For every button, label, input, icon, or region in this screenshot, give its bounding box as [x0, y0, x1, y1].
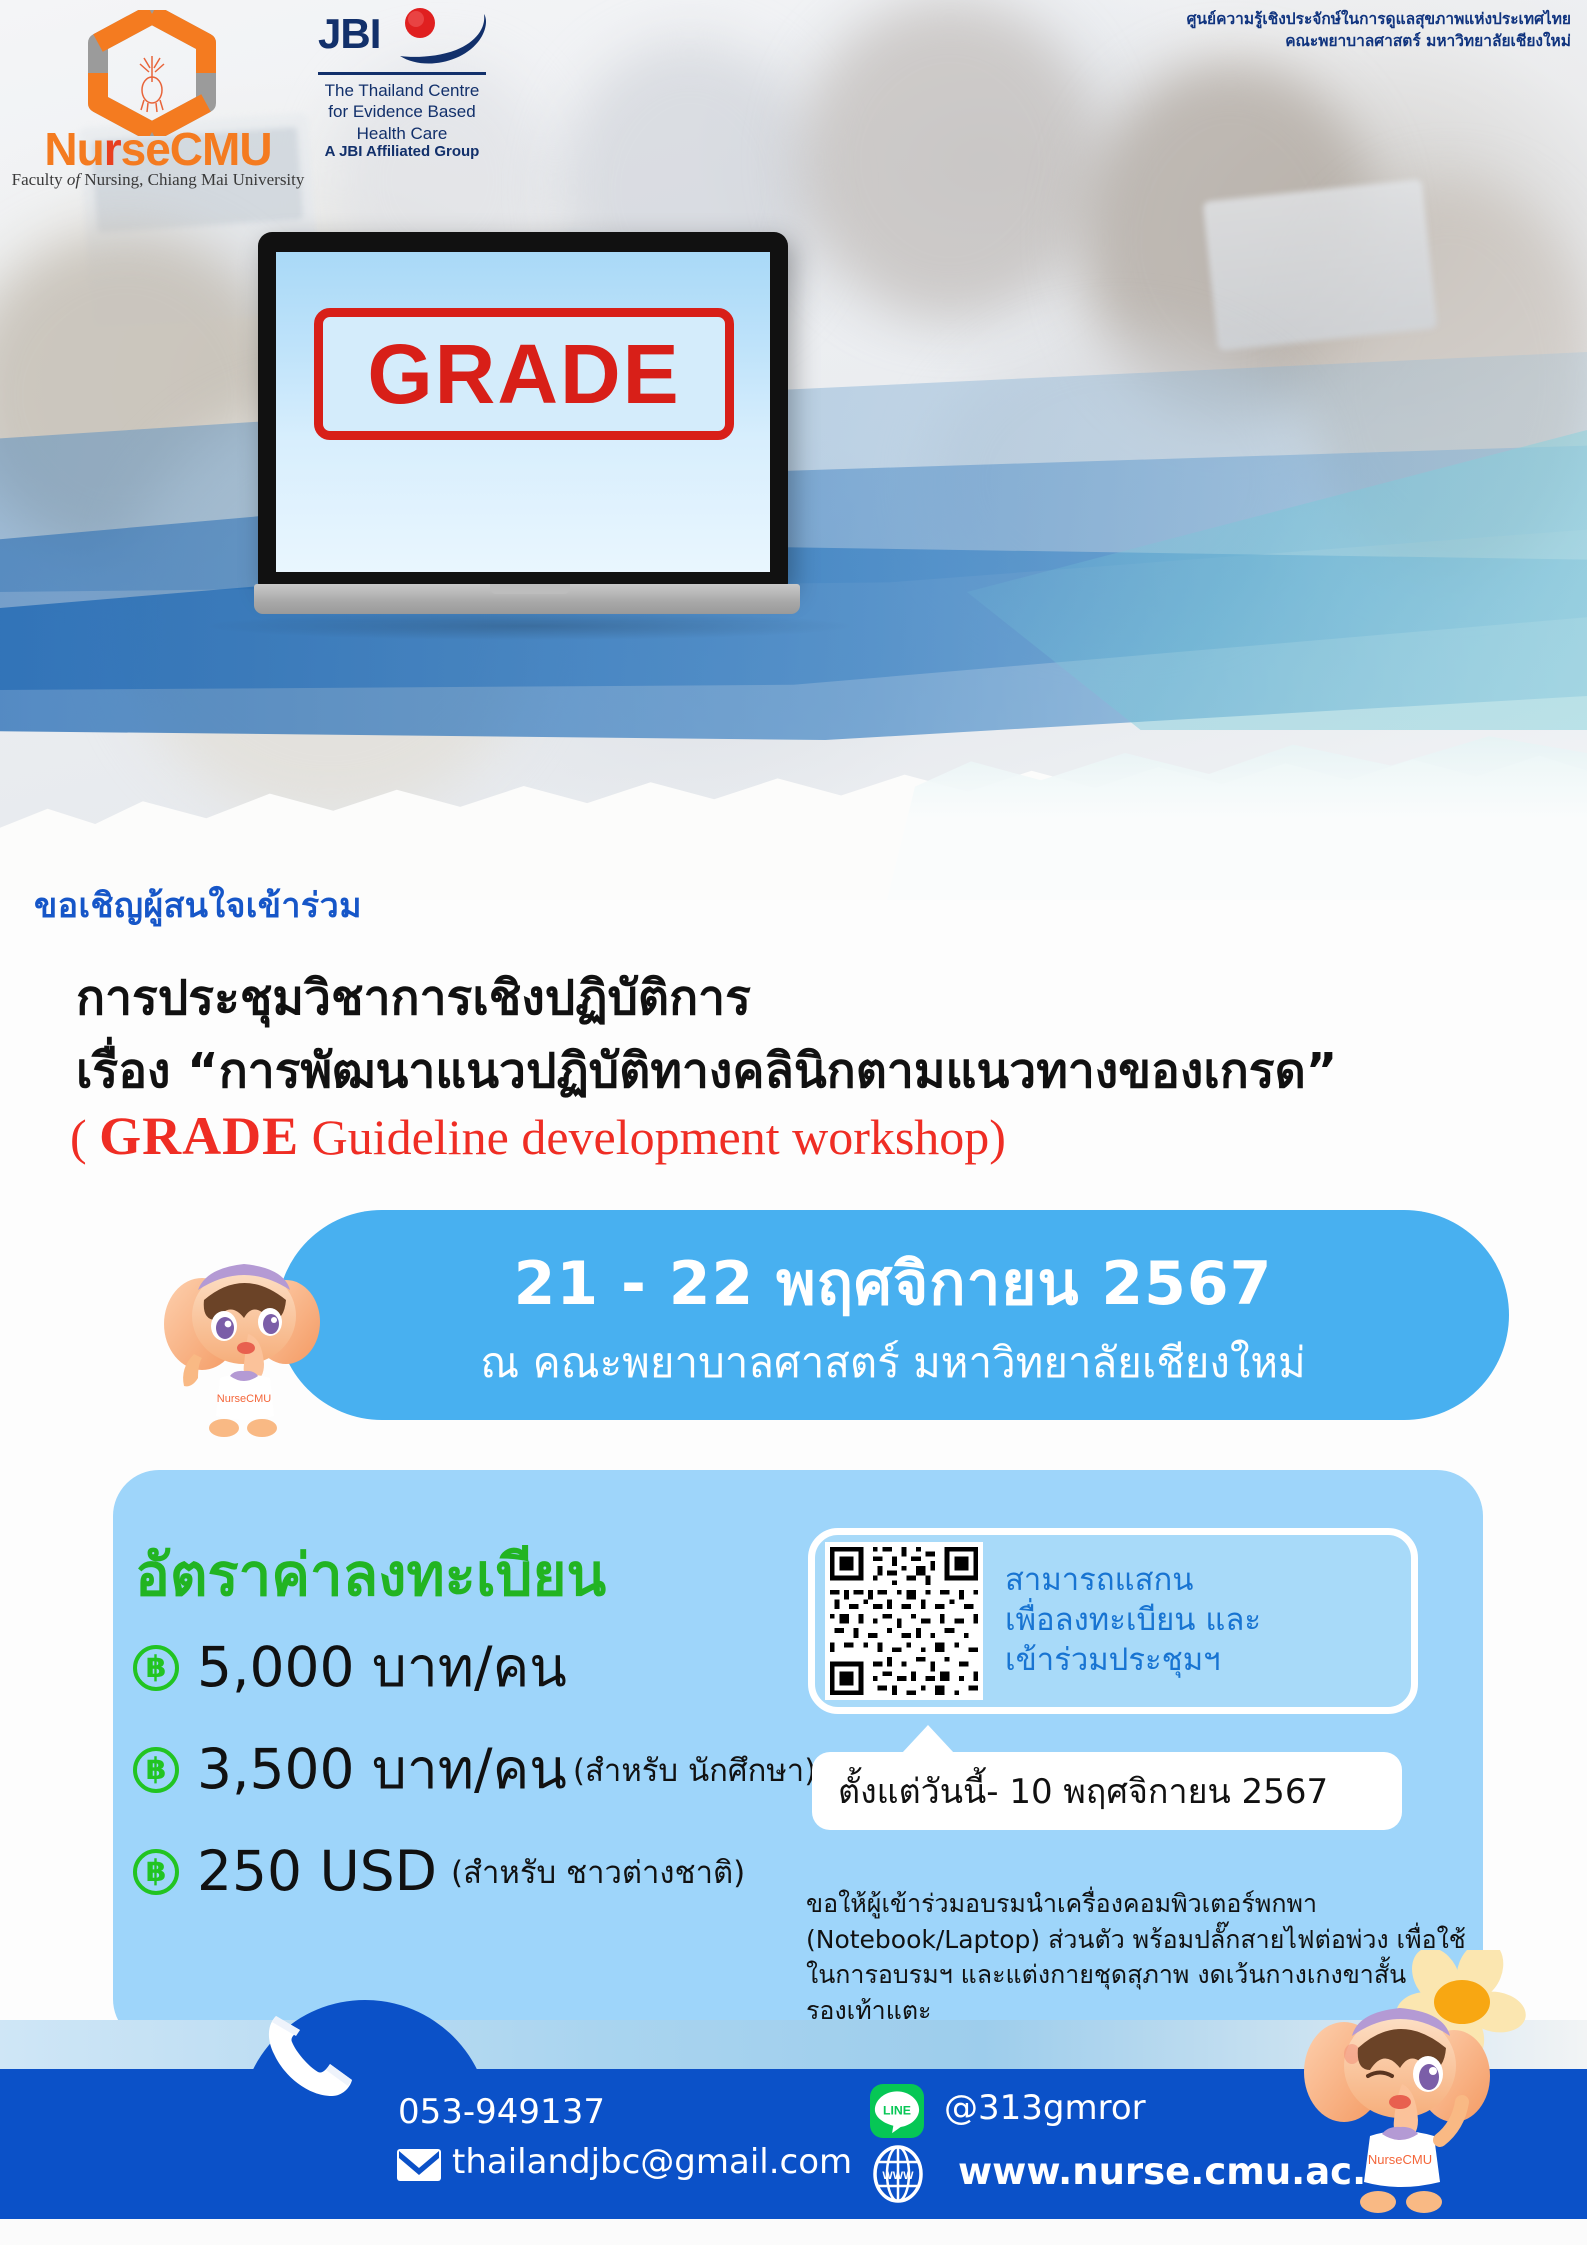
jbi-affiliation: A JBI Affiliated Group — [318, 143, 486, 160]
globe-www-icon: WWW — [872, 2144, 924, 2204]
event-venue: ณ คณะพยาบาลศาสตร์ มหาวิทยาลัยเชียงใหม่ — [277, 1330, 1509, 1396]
jbi-swoosh-icon — [398, 6, 490, 72]
page-title-line1: การประชุมวิชาการเชิงปฏิบัติการ — [76, 960, 751, 1036]
fee-amount: 5,000 บาท/คน — [197, 1640, 567, 1695]
laptop-screen: GRADE — [276, 252, 770, 572]
invitation-line: ขอเชิญผู้สนใจเข้าร่วม — [34, 878, 362, 932]
fee-amount: 3,500 บาท/คน — [197, 1742, 567, 1797]
line-icon[interactable]: LINE — [870, 2084, 924, 2138]
page-title-line2: เรื่อง “การพัฒนาแนวปฏิบัติทางคลินิกตามแน… — [76, 1033, 1337, 1109]
fee-note: (สำหรับ ชาวต่างชาติ) — [451, 1847, 745, 1897]
nursecmu-logo: NurseCMU Faculty of Nursing, Chiang Mai … — [8, 10, 308, 175]
header-org-name: ศูนย์ความรู้เชิงประจักษ์ในการดูแลสุขภาพแ… — [1187, 8, 1571, 53]
jbi-logo: JBI The Thailand Centre for Evidence Bas… — [318, 6, 486, 168]
laptop-notch — [490, 584, 570, 594]
header-org-line2: คณะพยาบาลศาสตร์ มหาวิทยาลัยเชียงใหม่ — [1187, 30, 1571, 52]
deadline-text: ตั้งแต่วันนี้- 10 พฤศจิกายน 2567 — [838, 1764, 1328, 1818]
qr-caption-line3: เข้าร่วมประชุมฯ — [1005, 1641, 1261, 1681]
laptop-graphic: GRADE — [258, 232, 818, 647]
mascot-shirt-text: NurseCMU — [217, 1393, 271, 1405]
phone-icon — [252, 2000, 362, 2110]
svg-text:LINE: LINE — [883, 2104, 911, 2118]
footer-bottom-margin — [0, 2219, 1587, 2245]
jbi-divider — [318, 72, 486, 75]
registration-title: อัตราค่าลงทะเบียน — [135, 1528, 606, 1621]
grade-badge: GRADE — [314, 308, 734, 440]
jbi-subtitle: The Thailand Centre for Evidence Based H… — [318, 80, 486, 144]
event-date-banner: 21 - 22 พฤศจิกายน 2567 ณ คณะพยาบาลศาสตร์… — [277, 1210, 1509, 1420]
laptop-body: GRADE — [258, 232, 788, 587]
photo-blur-shape — [800, 0, 1100, 320]
baht-coin-icon: ฿ — [133, 1747, 179, 1793]
jbi-subtitle-line3: Health Care — [318, 123, 486, 144]
fee-note: (สำหรับ นักศึกษา) — [573, 1745, 816, 1795]
footer-line-id[interactable]: @313gmror — [944, 2088, 1146, 2128]
header-org-line1: ศูนย์ความรู้เชิงประจักษ์ในการดูแลสุขภาพแ… — [1187, 8, 1571, 30]
qr-callout[interactable]: สามารถแสกน เพื่อลงทะเบียน และ เข้าร่วมปร… — [808, 1528, 1418, 1714]
fee-row: ฿ 3,500 บาท/คน (สำหรับ นักศึกษา) — [133, 1742, 816, 1797]
qr-caption-line2: เพื่อลงทะเบียน และ — [1005, 1601, 1261, 1641]
laptop-shadow — [210, 612, 850, 640]
qr-caption-line1: สามารถแสกน — [1005, 1561, 1261, 1601]
event-date: 21 - 22 พฤศจิกายน 2567 — [277, 1236, 1509, 1331]
fee-row: ฿ 5,000 บาท/คน — [133, 1640, 573, 1695]
fee-row: ฿ 250 USD (สำหรับ ชาวต่างชาติ) — [133, 1844, 745, 1899]
hexagon-icon — [86, 10, 218, 136]
nursecmu-wordmark: NurseCMU — [8, 126, 308, 172]
mail-icon — [396, 2148, 442, 2182]
footer-phone[interactable]: 053-949137 — [398, 2092, 605, 2132]
deadline-callout: ตั้งแต่วันนี้- 10 พฤศจิกายน 2567 — [812, 1752, 1402, 1830]
qr-caption: สามารถแสกน เพื่อลงทะเบียน และ เข้าร่วมปร… — [1005, 1561, 1261, 1680]
svg-text:WWW: WWW — [882, 2170, 914, 2182]
mascot-shirt-text: NurseCMU — [1368, 2152, 1432, 2167]
baht-coin-icon: ฿ — [133, 1849, 179, 1895]
grade-inline-word: GRADE — [99, 1106, 299, 1166]
qr-code-icon[interactable] — [825, 1542, 983, 1700]
page-title-line3: ( GRADE Guideline development workshop) — [70, 1105, 1006, 1167]
mascot-elephant-left: NurseCMU — [158, 1238, 328, 1438]
jbi-subtitle-line2: for Evidence Based — [318, 101, 486, 122]
jbi-acronym: JBI — [318, 10, 380, 58]
nursecmu-tagline: Faculty of Nursing, Chiang Mai Universit… — [8, 170, 308, 190]
mascot-elephant-right: NurseCMU — [1296, 1950, 1526, 2220]
fee-amount: 250 USD — [197, 1844, 437, 1899]
footer-email[interactable]: thailandjbc@gmail.com — [452, 2142, 852, 2182]
poster-root: NurseCMU Faculty of Nursing, Chiang Mai … — [0, 0, 1587, 2245]
baht-coin-icon: ฿ — [133, 1645, 179, 1691]
photo-monitor — [1203, 179, 1437, 351]
grade-wordmark: GRADE — [367, 332, 680, 416]
jbi-subtitle-line1: The Thailand Centre — [318, 80, 486, 101]
